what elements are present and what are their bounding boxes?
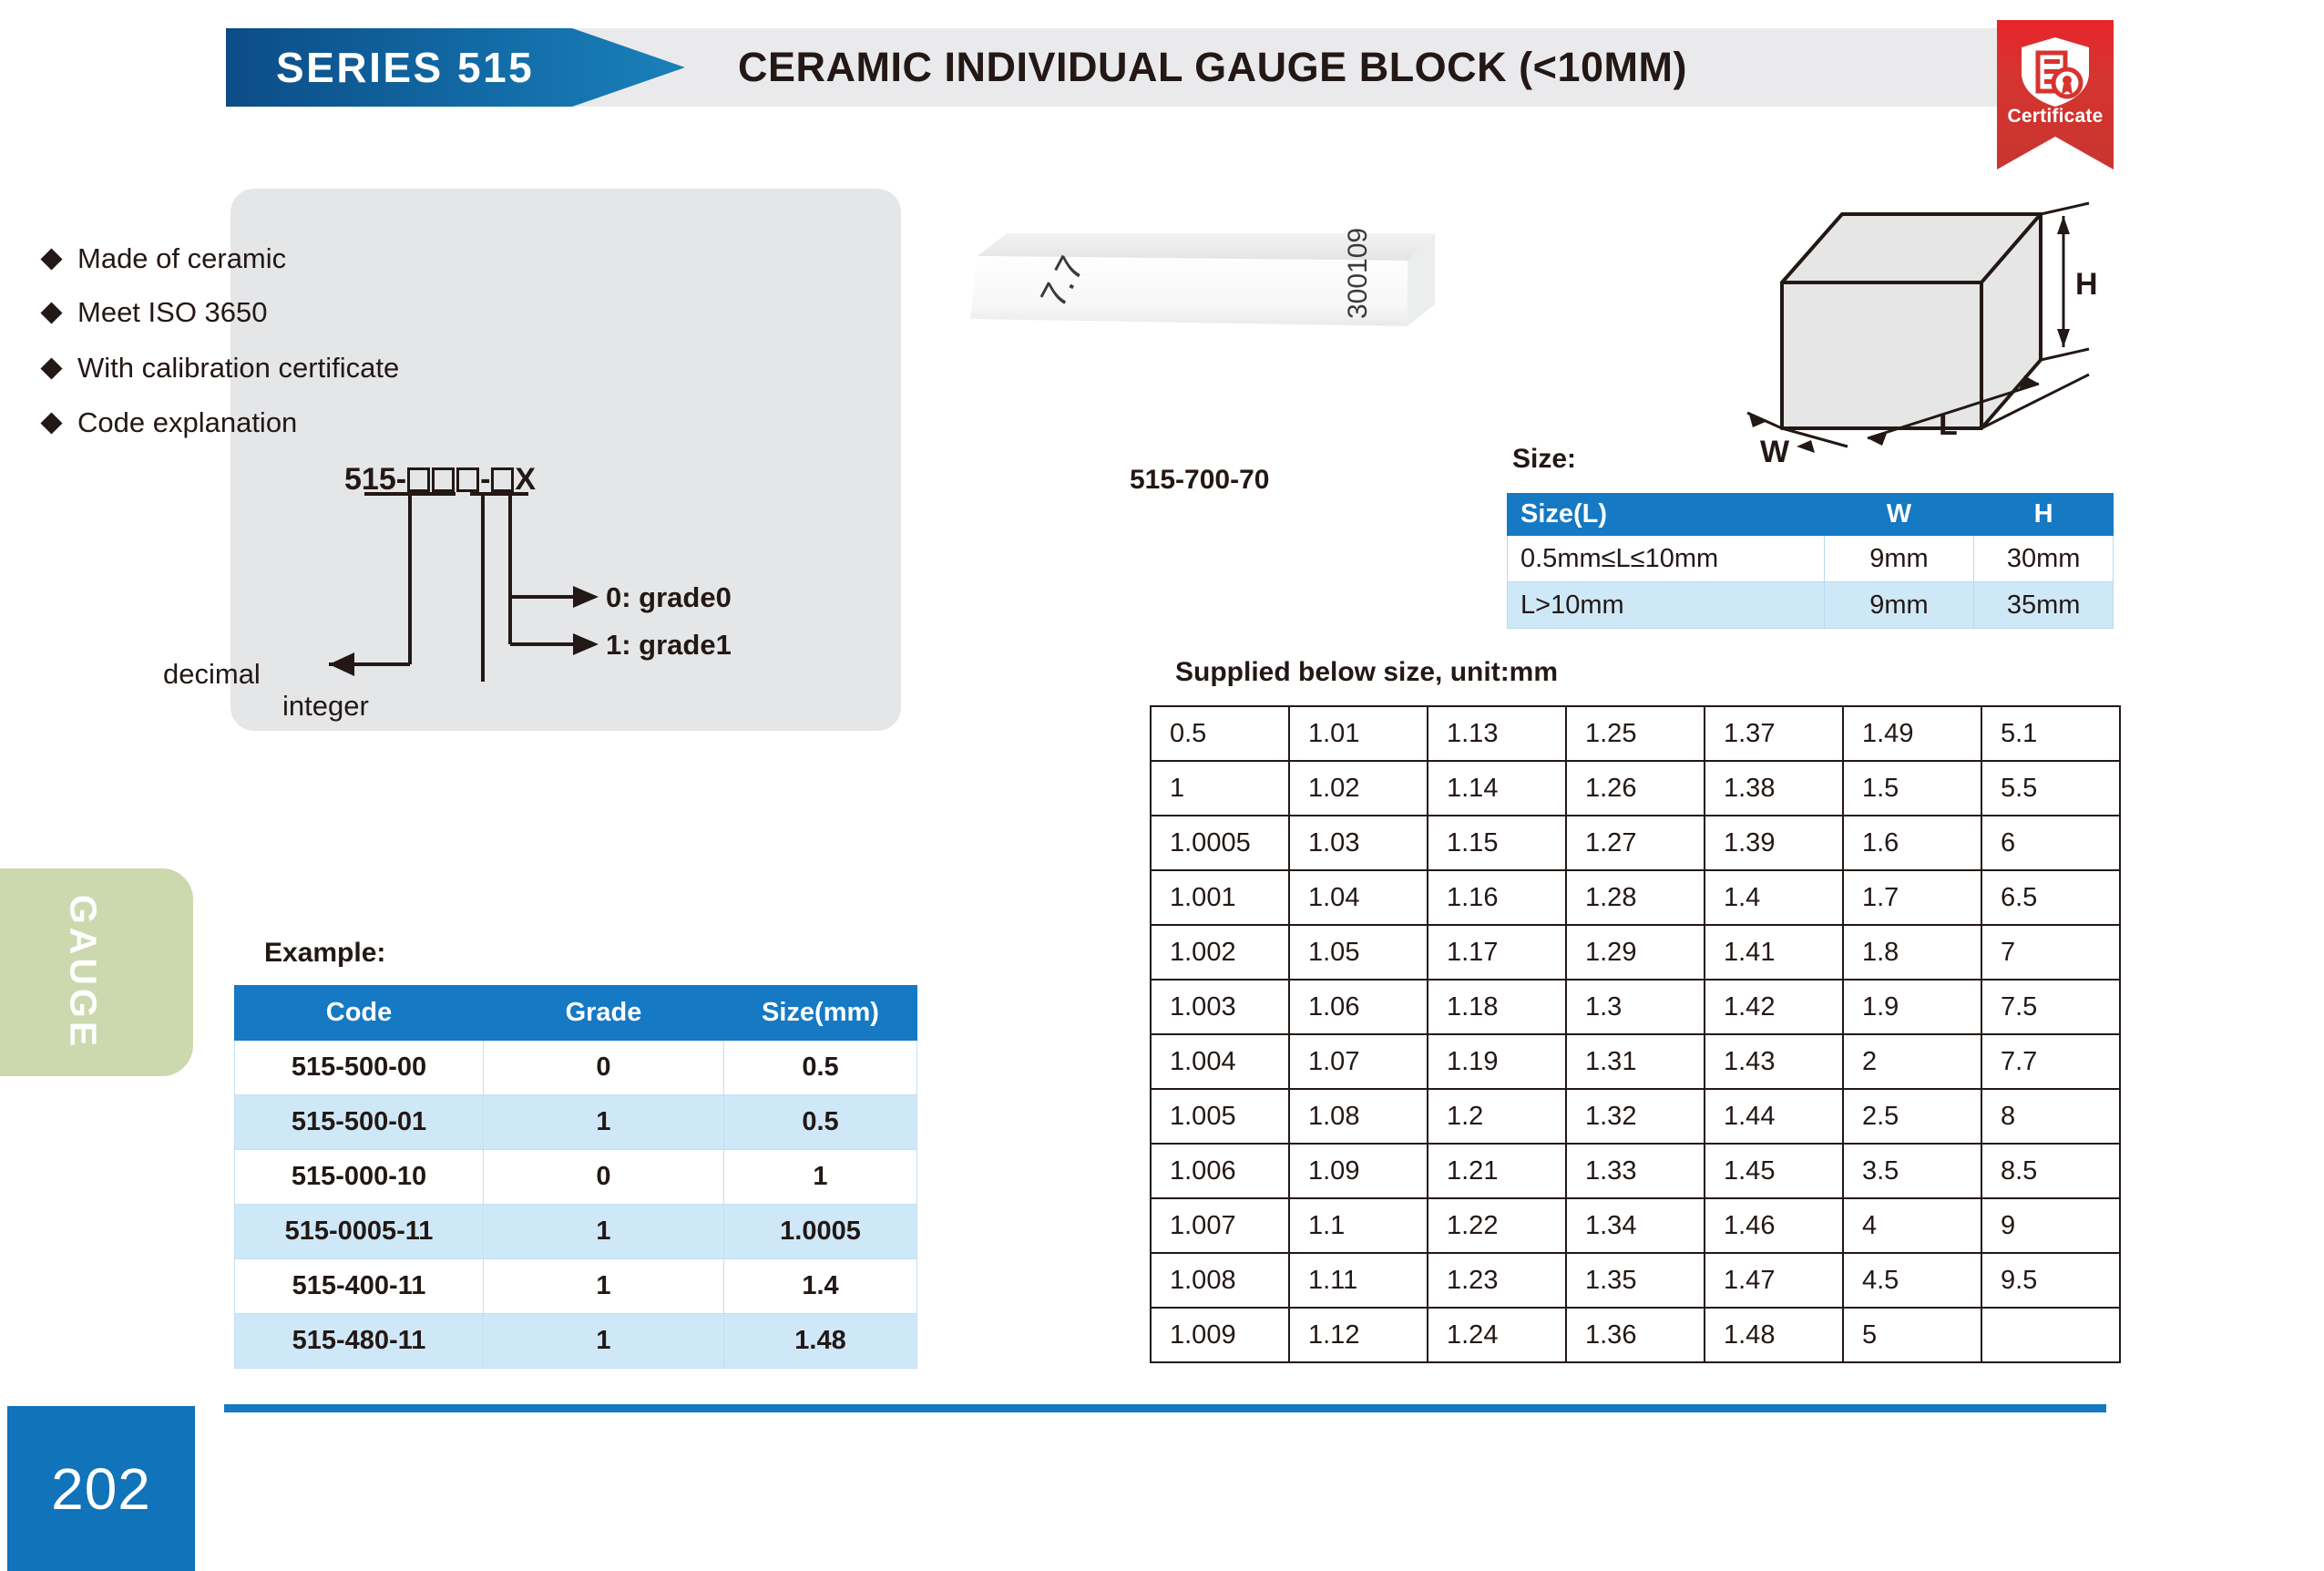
table-row: 515-480-1111.48 xyxy=(235,1314,917,1369)
table-row: 1.0081.111.231.351.474.59.5 xyxy=(1151,1253,2120,1308)
cell-w: 9mm xyxy=(1824,582,1974,629)
size-cell: 1.005 xyxy=(1151,1089,1289,1144)
product-photo: 7.7 300109 xyxy=(952,217,1462,363)
cell-grade: 1 xyxy=(484,1205,724,1259)
size-cell: 1.3 xyxy=(1566,980,1705,1034)
cell-grade: 0 xyxy=(484,1150,724,1205)
size-cell: 1.008 xyxy=(1151,1253,1289,1308)
table-header-row: Code Grade Size(mm) xyxy=(235,986,917,1041)
size-cell: 1.25 xyxy=(1566,706,1705,761)
table-row: 0.5mm≤L≤10mm 9mm 30mm xyxy=(1508,536,2114,582)
leader-lines xyxy=(230,447,901,693)
size-cell: 8 xyxy=(1981,1089,2120,1144)
size-cell: 5.5 xyxy=(1981,761,2120,816)
product-caption: 515-700-70 xyxy=(1130,465,1269,496)
size-cell: 1.49 xyxy=(1843,706,1981,761)
table-row: 1.0011.041.161.281.41.76.5 xyxy=(1151,870,2120,925)
example-heading: Example: xyxy=(264,938,385,969)
size-cell: 1.41 xyxy=(1705,925,1843,980)
size-cell: 1.06 xyxy=(1289,980,1428,1034)
certificate-badge: Certificate xyxy=(1997,20,2114,169)
sidebar-tab-gauge: GAUGE xyxy=(0,868,193,1076)
table-row: 515-000-1001 xyxy=(235,1150,917,1205)
table-row: 1.0091.121.241.361.485 xyxy=(1151,1308,2120,1362)
example-header-code: Code xyxy=(235,986,484,1041)
integer-label: integer xyxy=(282,690,369,723)
cell-grade: 1 xyxy=(484,1259,724,1314)
cell-grade: 1 xyxy=(484,1314,724,1369)
cell-code: 515-000-10 xyxy=(235,1150,484,1205)
size-cell: 1.08 xyxy=(1289,1089,1428,1144)
size-cell: 1.04 xyxy=(1289,870,1428,925)
cell-size: 1 xyxy=(724,1150,917,1205)
size-cell: 1.39 xyxy=(1705,816,1843,870)
size-cell: 1.13 xyxy=(1428,706,1566,761)
feature-label: Made of ceramic xyxy=(77,242,286,275)
size-cell: 1.002 xyxy=(1151,925,1289,980)
size-cell: 6.5 xyxy=(1981,870,2120,925)
size-cell: 9 xyxy=(1981,1198,2120,1253)
size-cell: 1.14 xyxy=(1428,761,1566,816)
table-row: 1.0051.081.21.321.442.58 xyxy=(1151,1089,2120,1144)
size-header-h: H xyxy=(1974,494,2114,536)
engraved-serial: 300109 xyxy=(1343,228,1373,319)
isometric-block-drawing: H L W xyxy=(1740,196,2123,469)
table-row: 515-500-0110.5 xyxy=(235,1095,917,1150)
size-cell: 1.006 xyxy=(1151,1144,1289,1198)
size-cell: 1.03 xyxy=(1289,816,1428,870)
cell-size: 0.5 xyxy=(724,1041,917,1095)
size-cell: 1.11 xyxy=(1289,1253,1428,1308)
size-cell: 1.22 xyxy=(1428,1198,1566,1253)
size-cell: 1.01 xyxy=(1289,706,1428,761)
size-cell: 3.5 xyxy=(1843,1144,1981,1198)
label-w: W xyxy=(1760,435,1790,469)
size-cell: 1.31 xyxy=(1566,1034,1705,1089)
size-cell: 1.8 xyxy=(1843,925,1981,980)
size-cell: 1.19 xyxy=(1428,1034,1566,1089)
table-row: L>10mm 9mm 35mm xyxy=(1508,582,2114,629)
table-row: 515-500-0000.5 xyxy=(235,1041,917,1095)
table-header-row: Size(L) W H xyxy=(1508,494,2114,536)
size-cell: 1.47 xyxy=(1705,1253,1843,1308)
catalog-page: SERIES 515 CERAMIC INDIVIDUAL GAUGE BLOC… xyxy=(0,0,2324,1571)
size-header-w: W xyxy=(1824,494,1974,536)
table-row: 1.0061.091.211.331.453.58.5 xyxy=(1151,1144,2120,1198)
cell-code: 515-500-00 xyxy=(235,1041,484,1095)
size-cell: 1.38 xyxy=(1705,761,1843,816)
example-header-grade: Grade xyxy=(484,986,724,1041)
size-cell: 1.6 xyxy=(1843,816,1981,870)
cell-grade: 1 xyxy=(484,1095,724,1150)
table-row: 1.00051.031.151.271.391.66 xyxy=(1151,816,2120,870)
table-row: 1.0071.11.221.341.4649 xyxy=(1151,1198,2120,1253)
cell-w: 9mm xyxy=(1824,536,1974,582)
series-label: SERIES 515 xyxy=(226,43,534,92)
cell-code: 515-480-11 xyxy=(235,1314,484,1369)
size-cell: 1.07 xyxy=(1289,1034,1428,1089)
diamond-bullet-icon xyxy=(40,248,62,270)
label-l: L xyxy=(1939,407,1958,442)
size-cell: 6 xyxy=(1981,816,2120,870)
cell-code: 515-400-11 xyxy=(235,1259,484,1314)
grade0-label: 0: grade0 xyxy=(606,581,732,614)
size-cell: 1.12 xyxy=(1289,1308,1428,1362)
page-number-value: 202 xyxy=(51,1455,151,1523)
table-row: 1.0031.061.181.31.421.97.5 xyxy=(1151,980,2120,1034)
size-cell: 1.1 xyxy=(1289,1198,1428,1253)
size-cell: 1.27 xyxy=(1566,816,1705,870)
size-table: Size(L) W H 0.5mm≤L≤10mm 9mm 30mm L>10mm… xyxy=(1507,493,2114,629)
supplied-heading: Supplied below size, unit:mm xyxy=(1175,657,1558,688)
feature-label: Meet ISO 3650 xyxy=(77,296,268,329)
size-cell: 1.7 xyxy=(1843,870,1981,925)
table-row: 11.021.141.261.381.55.5 xyxy=(1151,761,2120,816)
cell-size: L>10mm xyxy=(1508,582,1825,629)
size-cell: 1.05 xyxy=(1289,925,1428,980)
example-header-size: Size(mm) xyxy=(724,986,917,1041)
size-cell: 1.32 xyxy=(1566,1089,1705,1144)
size-cell: 1.09 xyxy=(1289,1144,1428,1198)
sidebar-tab-label: GAUGE xyxy=(62,895,105,1050)
size-cell: 1.001 xyxy=(1151,870,1289,925)
size-cell: 5.1 xyxy=(1981,706,2120,761)
feature-label: With calibration certificate xyxy=(77,352,399,385)
size-cell: 1.43 xyxy=(1705,1034,1843,1089)
size-cell: 1.24 xyxy=(1428,1308,1566,1362)
size-cell: 1.33 xyxy=(1566,1144,1705,1198)
certificate-shield-icon xyxy=(2018,35,2093,109)
cell-code: 515-500-01 xyxy=(235,1095,484,1150)
table-row: 0.51.011.131.251.371.495.1 xyxy=(1151,706,2120,761)
size-cell: 1.37 xyxy=(1705,706,1843,761)
table-row: 1.0041.071.191.311.4327.7 xyxy=(1151,1034,2120,1089)
cell-size: 0.5mm≤L≤10mm xyxy=(1508,536,1825,582)
size-cell: 1.15 xyxy=(1428,816,1566,870)
size-cell: 1.0005 xyxy=(1151,816,1289,870)
cell-size: 0.5 xyxy=(724,1095,917,1150)
size-cell: 1.009 xyxy=(1151,1308,1289,1362)
size-cell: 1.18 xyxy=(1428,980,1566,1034)
size-cell: 5 xyxy=(1843,1308,1981,1362)
example-table: Code Grade Size(mm) 515-500-0000.5515-50… xyxy=(234,985,917,1369)
size-cell: 1.36 xyxy=(1566,1308,1705,1362)
cell-size: 1.4 xyxy=(724,1259,917,1314)
cell-size: 1.48 xyxy=(724,1314,917,1369)
size-cell: 1.5 xyxy=(1843,761,1981,816)
size-cell: 4.5 xyxy=(1843,1253,1981,1308)
feature-label: Code explanation xyxy=(77,406,297,439)
size-cell: 1.34 xyxy=(1566,1198,1705,1253)
size-cell: 7.7 xyxy=(1981,1034,2120,1089)
supplied-sizes-table: 0.51.011.131.251.371.495.111.021.141.261… xyxy=(1150,705,2121,1363)
feature-item: Made of ceramic xyxy=(44,242,286,275)
size-cell: 1.44 xyxy=(1705,1089,1843,1144)
size-cell: 1.26 xyxy=(1566,761,1705,816)
table-row: 515-0005-1111.0005 xyxy=(235,1205,917,1259)
size-cell xyxy=(1981,1308,2120,1362)
size-cell: 2.5 xyxy=(1843,1089,1981,1144)
size-cell: 2 xyxy=(1843,1034,1981,1089)
size-cell: 1.46 xyxy=(1705,1198,1843,1253)
size-cell: 0.5 xyxy=(1151,706,1289,761)
feature-item: Code explanation xyxy=(44,406,297,439)
diamond-bullet-icon xyxy=(40,357,62,379)
label-h: H xyxy=(2075,267,2098,302)
size-cell: 1.35 xyxy=(1566,1253,1705,1308)
size-cell: 1 xyxy=(1151,761,1289,816)
diamond-bullet-icon xyxy=(40,412,62,434)
table-row: 1.0021.051.171.291.411.87 xyxy=(1151,925,2120,980)
size-cell: 1.16 xyxy=(1428,870,1566,925)
size-cell: 4 xyxy=(1843,1198,1981,1253)
size-cell: 7.5 xyxy=(1981,980,2120,1034)
code-explanation-diagram: 515- - X xyxy=(230,447,901,693)
size-cell: 7 xyxy=(1981,925,2120,980)
size-cell: 1.45 xyxy=(1705,1144,1843,1198)
cell-grade: 0 xyxy=(484,1041,724,1095)
feature-item: With calibration certificate xyxy=(44,352,399,385)
cell-h: 35mm xyxy=(1974,582,2114,629)
size-cell: 1.2 xyxy=(1428,1089,1566,1144)
cell-h: 30mm xyxy=(1974,536,2114,582)
size-header-l: Size(L) xyxy=(1508,494,1825,536)
size-cell: 1.23 xyxy=(1428,1253,1566,1308)
diamond-bullet-icon xyxy=(40,302,62,323)
size-cell: 1.003 xyxy=(1151,980,1289,1034)
size-cell: 1.42 xyxy=(1705,980,1843,1034)
page-title: CERAMIC INDIVIDUAL GAUGE BLOCK (<10MM) xyxy=(738,28,1687,107)
size-cell: 8.5 xyxy=(1981,1144,2120,1198)
size-cell: 1.4 xyxy=(1705,870,1843,925)
size-cell: 1.004 xyxy=(1151,1034,1289,1089)
size-cell: 1.02 xyxy=(1289,761,1428,816)
certificate-label: Certificate xyxy=(1997,106,2114,128)
size-heading: Size: xyxy=(1512,444,1576,475)
footer-rule xyxy=(224,1404,2106,1412)
grade1-label: 1: grade1 xyxy=(606,629,732,662)
size-cell: 1.48 xyxy=(1705,1308,1843,1362)
size-cell: 9.5 xyxy=(1981,1253,2120,1308)
page-number-badge: 202 xyxy=(7,1406,195,1571)
size-cell: 1.28 xyxy=(1566,870,1705,925)
size-cell: 1.9 xyxy=(1843,980,1981,1034)
size-cell: 1.007 xyxy=(1151,1198,1289,1253)
size-cell: 1.21 xyxy=(1428,1144,1566,1198)
feature-item: Meet ISO 3650 xyxy=(44,296,268,329)
decimal-label: decimal xyxy=(163,658,261,691)
size-cell: 1.29 xyxy=(1566,925,1705,980)
cell-code: 515-0005-11 xyxy=(235,1205,484,1259)
size-cell: 1.17 xyxy=(1428,925,1566,980)
table-row: 515-400-1111.4 xyxy=(235,1259,917,1314)
cell-size: 1.0005 xyxy=(724,1205,917,1259)
